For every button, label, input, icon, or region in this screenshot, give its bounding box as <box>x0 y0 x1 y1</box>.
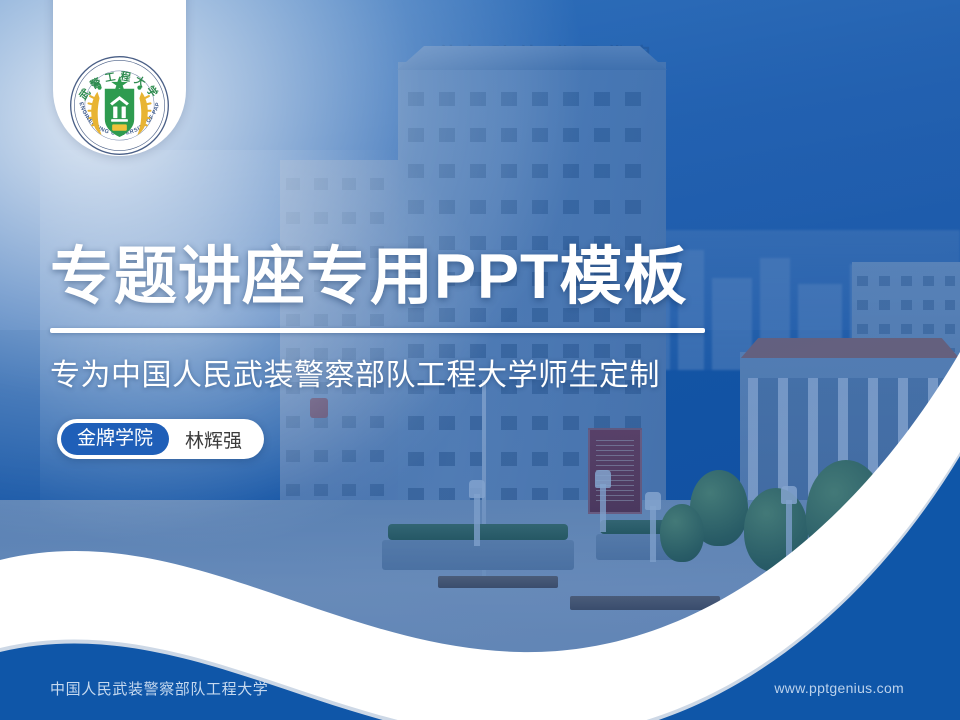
badge-author-name: 林辉强 <box>185 426 242 453</box>
footer-organization: 中国人民武装警察部队工程大学 <box>50 678 268 699</box>
emblem-base-plate <box>112 124 127 130</box>
slide-canvas: 能打胜仗 作风优良 <box>0 0 960 720</box>
title-divider <box>50 328 705 333</box>
page-title: 专题讲座专用PPT模板 <box>50 243 750 311</box>
credit-badge[interactable]: 金牌学院 林辉强 <box>57 419 264 459</box>
university-emblem-icon: 武警工程大学 ENGINEERING UNIVERSITY OF PAP <box>67 53 172 158</box>
footer-website[interactable]: www.pptgenius.com <box>774 680 904 696</box>
badge-tag-label: 金牌学院 <box>61 423 169 455</box>
page-subtitle: 专为中国人民武装警察部队工程大学师生定制 <box>50 350 770 394</box>
